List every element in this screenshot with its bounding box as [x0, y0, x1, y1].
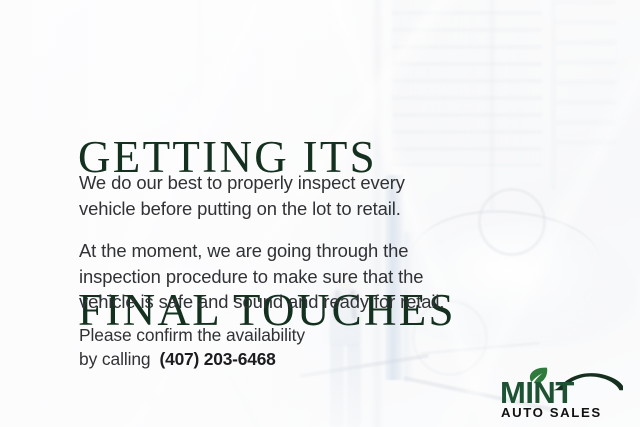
- phone-number[interactable]: (407) 203-6468: [160, 349, 276, 369]
- body-paragraph-2: At the moment, we are going through the …: [79, 238, 444, 315]
- body-paragraph-1: We do our best to properly inspect every…: [79, 170, 405, 221]
- banner-content: GETTING ITS FINAL TOUCHES We do our best…: [0, 0, 640, 427]
- cta-line-1: Please confirm the availability: [79, 323, 305, 347]
- call-to-action: Please confirm the availability by calli…: [79, 323, 305, 371]
- promo-banner: GETTING ITS FINAL TOUCHES We do our best…: [0, 0, 640, 427]
- dealer-logo[interactable]: MINT AUTO SALES: [488, 370, 624, 420]
- cta-line-2: by calling(407) 203-6468: [79, 347, 305, 371]
- cta-calling-prefix: by calling: [79, 349, 151, 369]
- logo-wordmark: MINT: [500, 377, 574, 408]
- logo-subtitle: AUTO SALES: [501, 406, 602, 419]
